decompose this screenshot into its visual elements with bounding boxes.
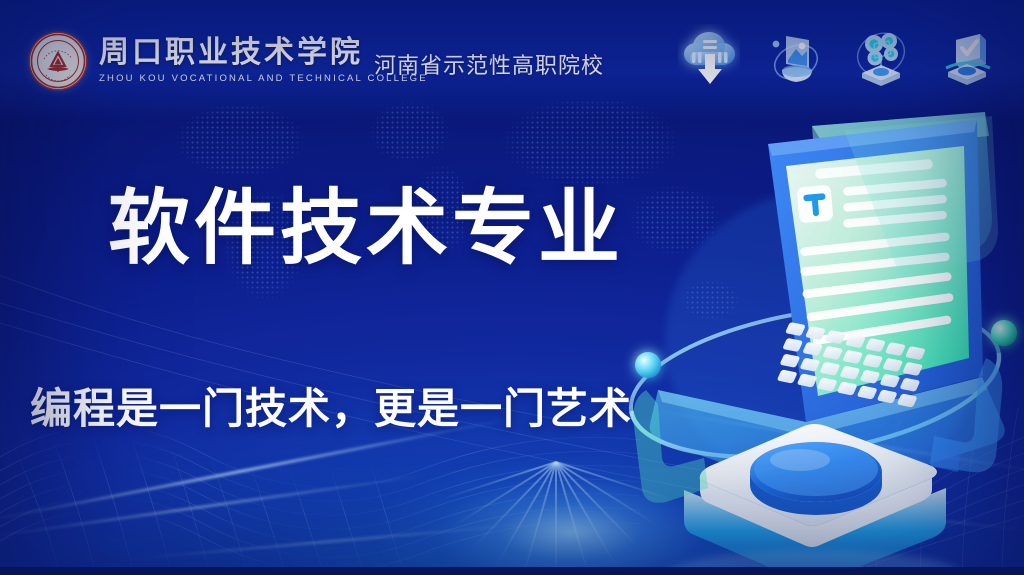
slide-canvas: 周口职业技术学院 ZHOU KOU VOCATIONAL AND TECHNIC…	[0, 0, 1024, 575]
bottom-edge-band	[0, 567, 1024, 575]
vignette-overlay	[0, 0, 1024, 575]
